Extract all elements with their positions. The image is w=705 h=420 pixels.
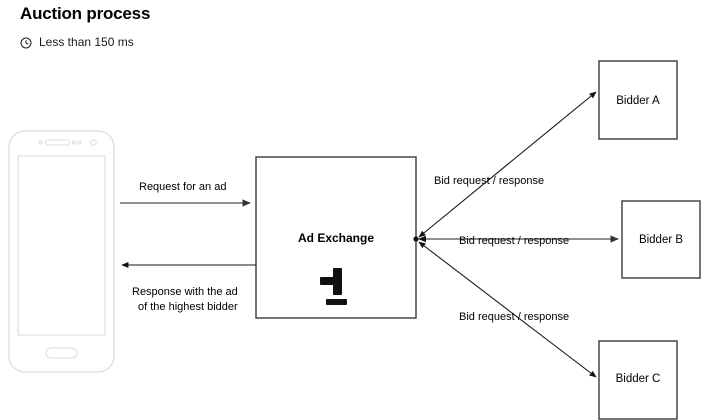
smartphone-icon <box>9 131 114 372</box>
node-bidder-c[interactable]: Bidder C <box>599 341 677 419</box>
edge-bid-a: Bid request / response <box>419 92 596 237</box>
edge-response-label-line2: of the highest bidder <box>138 301 238 313</box>
bidder-b-label: Bidder B <box>639 234 683 246</box>
edge-response-label-line1: Response with the ad <box>132 286 238 298</box>
edge-bid-b: Bid request / response <box>419 235 618 247</box>
node-bidder-a[interactable]: Bidder A <box>599 61 677 139</box>
edge-request: Request for an ad <box>120 181 250 203</box>
auction-process-diagram: Ad Exchange Bidder A Bidder B Bidder C R… <box>0 0 705 420</box>
bidder-a-label: Bidder A <box>616 95 660 107</box>
edge-bid-b-label: Bid request / response <box>459 235 569 247</box>
edge-request-label: Request for an ad <box>139 181 226 193</box>
edge-bid-a-label: Bid request / response <box>434 175 544 187</box>
edge-bid-c-label: Bid request / response <box>459 311 569 323</box>
node-bidder-b[interactable]: Bidder B <box>622 201 700 278</box>
edge-response: Response with the ad of the highest bidd… <box>122 265 256 313</box>
node-ad-exchange[interactable]: Ad Exchange <box>256 157 416 318</box>
edge-junction-point <box>413 236 418 241</box>
node-device[interactable] <box>9 131 114 372</box>
ad-exchange-label: Ad Exchange <box>298 231 374 245</box>
edge-bid-c: Bid request / response <box>419 242 596 377</box>
bidder-c-label: Bidder C <box>616 373 661 385</box>
